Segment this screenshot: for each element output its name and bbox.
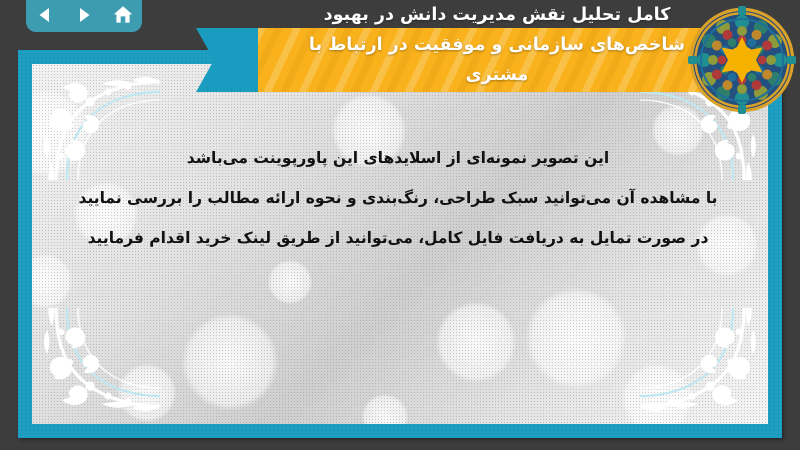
back-button[interactable] xyxy=(31,2,59,28)
banner-weave-pattern xyxy=(258,28,736,92)
title-banner: کامل تحلیل نقش مدیریت دانش در بهبود شاخص… xyxy=(196,0,800,120)
body-text: این تصویر نمونه‌ای از اسلایدهای این پاور… xyxy=(72,138,724,258)
body-line: این تصویر نمونه‌ای از اسلایدهای این پاور… xyxy=(72,138,724,178)
slide-viewer: این تصویر نمونه‌ای از اسلایدهای این پاور… xyxy=(0,0,800,450)
triangle-left-icon xyxy=(35,5,55,25)
navigation-toolbar xyxy=(26,0,142,32)
body-line: در صورت تمایل به دریافت فایل کامل، می‌تو… xyxy=(72,218,724,258)
home-button[interactable] xyxy=(109,2,137,28)
persian-medallion-icon xyxy=(688,6,796,114)
triangle-right-icon xyxy=(74,5,94,25)
title-line: کامل تحلیل نقش مدیریت دانش در بهبود xyxy=(324,0,671,30)
home-icon xyxy=(112,4,134,26)
ribbon-tail xyxy=(196,28,262,92)
forward-button[interactable] xyxy=(70,2,98,28)
body-line: با مشاهده آن می‌توانید سبک طراحی، رنگ‌بن… xyxy=(72,178,724,218)
banner-bar xyxy=(258,28,736,92)
